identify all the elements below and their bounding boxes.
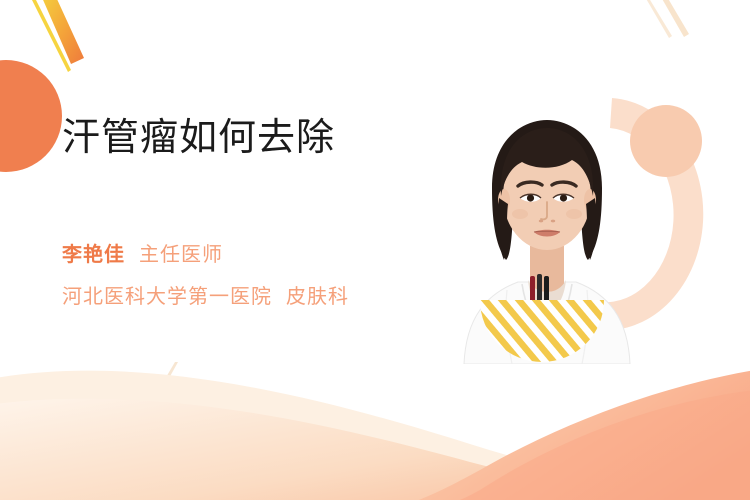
page-title: 汗管瘤如何去除 bbox=[62, 112, 462, 162]
doctor-credit-line: 李艳佳主任医师 bbox=[62, 240, 462, 270]
pocket-pens bbox=[530, 274, 549, 302]
doctor-portrait bbox=[452, 104, 642, 364]
orange-circle-left bbox=[0, 60, 62, 172]
doctor-professional-title: 主任医师 bbox=[139, 242, 223, 266]
doctor-portrait-illustration bbox=[452, 104, 642, 364]
department-name: 皮肤科 bbox=[286, 284, 349, 308]
doctor-video-cover-card: 汗管瘤如何去除 李艳佳主任医师 河北医科大学第一医院皮肤科 bbox=[0, 0, 750, 500]
doctor-affiliation-line: 河北医科大学第一医院皮肤科 bbox=[62, 282, 462, 312]
stripe-faint-top-right-a bbox=[657, 0, 689, 37]
hospital-name: 河北医科大学第一医院 bbox=[62, 284, 272, 308]
doctor-name: 李艳佳 bbox=[62, 242, 125, 266]
text-block: 汗管瘤如何去除 李艳佳主任医师 河北医科大学第一医院皮肤科 bbox=[62, 112, 462, 312]
